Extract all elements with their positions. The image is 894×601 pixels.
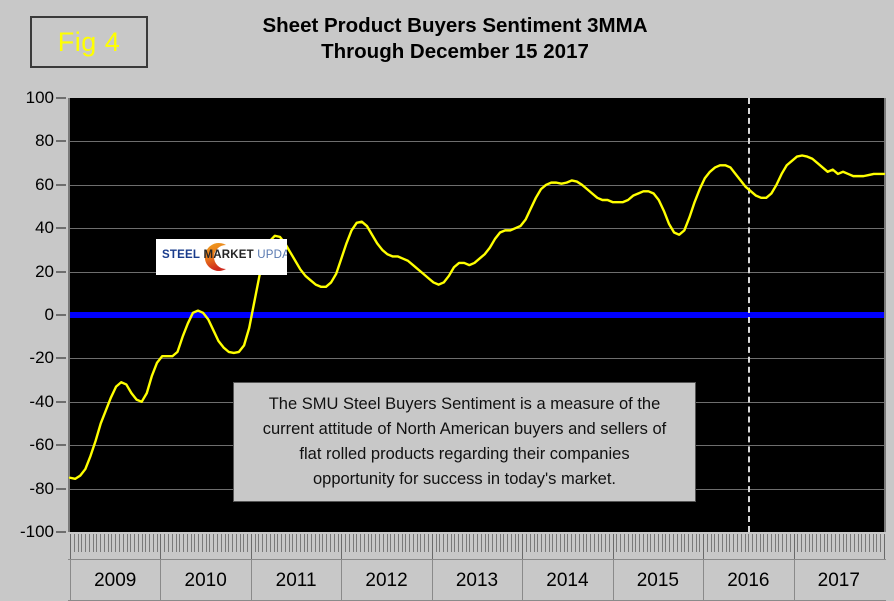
y-axis-tick-mark — [56, 227, 66, 229]
x-axis-minor-tick — [187, 534, 188, 552]
x-axis-minor-tick — [549, 534, 550, 552]
x-axis-minor-tick — [142, 534, 143, 552]
x-axis-minor-tick — [699, 534, 700, 552]
x-axis-minor-tick — [876, 534, 877, 552]
x-axis-minor-tick — [748, 534, 749, 552]
x-axis-minor-tick — [635, 534, 636, 552]
x-axis-minor-tick — [534, 534, 535, 552]
x-axis-minor-tick — [846, 534, 847, 552]
x-axis-minor-tick — [164, 534, 165, 552]
x-axis-label-separator — [703, 560, 704, 601]
x-axis-minor-tick — [123, 534, 124, 552]
x-axis-minor-tick — [78, 534, 79, 552]
x-axis-minor-tick — [643, 534, 644, 552]
x-axis-minor-tick — [601, 534, 602, 552]
x-axis-minor-tick — [473, 534, 474, 552]
x-axis-minor-tick — [262, 534, 263, 552]
y-axis-tick-mark — [56, 444, 66, 446]
x-axis-year-label: 2016 — [703, 560, 793, 601]
x-axis-year-tick — [70, 534, 71, 560]
x-axis-minor-tick — [202, 534, 203, 552]
x-axis-minor-tick — [492, 534, 493, 552]
x-axis-minor-tick — [707, 534, 708, 552]
x-axis-minor-tick — [658, 534, 659, 552]
x-axis-minor-tick — [236, 534, 237, 552]
x-axis-minor-tick — [541, 534, 542, 552]
x-axis-minor-tick — [405, 534, 406, 552]
y-axis-tick-label: -60 — [0, 435, 54, 455]
x-axis-label-separator — [341, 560, 342, 601]
logo-text: STEEL MARKET UPDATE — [162, 250, 287, 262]
x-axis-minor-tick — [590, 534, 591, 552]
x-axis-minor-tick — [786, 534, 787, 552]
x-axis-minor-tick — [402, 534, 403, 552]
y-axis-tick-mark — [56, 97, 66, 99]
x-axis-minor-tick — [797, 534, 798, 552]
x-axis-minor-tick — [733, 534, 734, 552]
x-axis-minor-tick — [741, 534, 742, 552]
x-axis-minor-tick — [880, 534, 881, 552]
x-axis-minor-tick — [371, 534, 372, 552]
x-axis-year-label: 2010 — [160, 560, 250, 601]
x-axis-minor-tick — [583, 534, 584, 552]
y-axis-tick-mark — [56, 314, 66, 316]
x-axis-minor-tick — [345, 534, 346, 552]
x-axis-minor-tick — [662, 534, 663, 552]
logo-text-steel: STEEL — [162, 249, 200, 261]
x-axis-minor-tick — [266, 534, 267, 552]
x-axis-year-label: 2017 — [794, 560, 884, 601]
annotation-line-1: The SMU Steel Buyers Sentiment is a meas… — [269, 395, 661, 413]
annotation-box: The SMU Steel Buyers Sentiment is a meas… — [233, 382, 696, 502]
x-axis-minor-tick — [334, 534, 335, 552]
x-axis-minor-tick — [319, 534, 320, 552]
x-axis-minor-tick — [726, 534, 727, 552]
y-axis-tick-mark — [56, 401, 66, 403]
x-axis-year-label: 2009 — [70, 560, 160, 601]
x-axis-minor-tick — [413, 534, 414, 552]
x-axis-minor-tick — [696, 534, 697, 552]
x-axis-minor-tick — [560, 534, 561, 552]
y-axis-tick-label: 20 — [0, 262, 54, 282]
x-axis-minor-tick — [575, 534, 576, 552]
y-axis-tick-label: 80 — [0, 131, 54, 151]
x-axis-minor-tick — [688, 534, 689, 552]
x-axis-year-label: 2012 — [341, 560, 431, 601]
x-axis-year-tick — [432, 534, 433, 560]
x-axis-minor-tick — [466, 534, 467, 552]
x-axis-minor-tick — [81, 534, 82, 552]
x-axis-minor-tick — [96, 534, 97, 552]
x-axis-minor-tick — [647, 534, 648, 552]
x-axis-minor-tick — [420, 534, 421, 552]
x-axis-minor-tick — [850, 534, 851, 552]
x-axis-minor-tick — [157, 534, 158, 552]
x-axis-minor-tick — [353, 534, 354, 552]
x-axis-minor-tick — [609, 534, 610, 552]
x-axis-minor-tick — [206, 534, 207, 552]
x-axis-minor-tick — [545, 534, 546, 552]
x-axis-minor-tick — [669, 534, 670, 552]
x-axis-minor-tick — [677, 534, 678, 552]
x-axis-minor-tick — [387, 534, 388, 552]
x-axis-minor-tick — [835, 534, 836, 552]
x-axis-minor-tick — [714, 534, 715, 552]
x-axis-minor-tick — [277, 534, 278, 552]
x-axis-minor-tick — [375, 534, 376, 552]
x-axis-minor-tick — [500, 534, 501, 552]
x-axis-minor-tick — [172, 534, 173, 552]
x-axis-minor-tick — [831, 534, 832, 552]
x-axis-minor-tick — [127, 534, 128, 552]
x-axis-minor-tick — [865, 534, 866, 552]
y-axis-tick-label: -20 — [0, 348, 54, 368]
x-axis-minor-tick — [620, 534, 621, 552]
x-axis-minor-tick — [598, 534, 599, 552]
x-axis-year-label: 2013 — [432, 560, 522, 601]
y-axis-tick-label: -80 — [0, 479, 54, 499]
x-axis-minor-tick — [247, 534, 248, 552]
y-axis-tick-mark — [56, 184, 66, 186]
x-axis-minor-tick — [632, 534, 633, 552]
x-axis-minor-tick — [481, 534, 482, 552]
x-axis-minor-tick — [556, 534, 557, 552]
x-axis-minor-tick — [812, 534, 813, 552]
x-axis-minor-tick — [827, 534, 828, 552]
x-axis-minor-tick — [737, 534, 738, 552]
x-axis-minor-tick — [85, 534, 86, 552]
x-axis-minor-tick — [398, 534, 399, 552]
logo-text-market: MARKET — [203, 249, 253, 261]
x-axis-minor-tick — [240, 534, 241, 552]
x-axis-minor-tick — [439, 534, 440, 552]
x-axis-minor-tick — [134, 534, 135, 552]
x-axis-minor-tick — [104, 534, 105, 552]
x-axis-minor-tick — [801, 534, 802, 552]
x-axis-minor-tick — [650, 534, 651, 552]
x-axis-minor-tick — [74, 534, 75, 552]
x-axis-minor-tick — [274, 534, 275, 552]
x-axis-year-tick — [703, 534, 704, 560]
x-axis-minor-tick — [665, 534, 666, 552]
x-axis-year-tick — [160, 534, 161, 560]
x-axis-minor-tick — [443, 534, 444, 552]
x-axis-label-separator — [70, 560, 71, 601]
chart-title: Sheet Product Buyers Sentiment 3MMA Thro… — [180, 13, 730, 65]
x-axis-minor-tick — [232, 534, 233, 552]
x-axis-minor-tick — [168, 534, 169, 552]
x-axis-minor-tick — [839, 534, 840, 552]
x-axis-minor-tick — [462, 534, 463, 552]
x-axis-minor-tick — [861, 534, 862, 552]
x-axis-minor-tick — [824, 534, 825, 552]
x-axis-minor-tick — [820, 534, 821, 552]
x-axis-minor-tick — [390, 534, 391, 552]
logo-text-update: UPDATE — [257, 249, 287, 261]
x-axis-minor-tick — [767, 534, 768, 552]
chart-title-line-1: Sheet Product Buyers Sentiment 3MMA — [180, 13, 730, 39]
x-axis-minor-tick — [869, 534, 870, 552]
x-axis-minor-tick — [130, 534, 131, 552]
x-axis-minor-tick — [477, 534, 478, 552]
x-axis-minor-tick — [469, 534, 470, 552]
x-axis-minor-tick — [552, 534, 553, 552]
x-axis-label-separator — [432, 560, 433, 601]
x-axis-minor-tick — [360, 534, 361, 552]
x-axis-minor-tick — [511, 534, 512, 552]
x-axis-minor-tick — [654, 534, 655, 552]
x-axis-minor-tick — [858, 534, 859, 552]
x-axis-minor-tick — [100, 534, 101, 552]
x-axis-minor-tick — [258, 534, 259, 552]
x-axis-minor-tick — [322, 534, 323, 552]
x-axis-minor-tick — [843, 534, 844, 552]
x-axis-minor-tick — [745, 534, 746, 552]
x-axis-minor-tick — [108, 534, 109, 552]
x-axis-minor-tick — [194, 534, 195, 552]
x-axis-minor-tick — [209, 534, 210, 552]
x-axis-minor-tick — [628, 534, 629, 552]
x-axis-minor-tick — [111, 534, 112, 552]
x-axis-labels: 200920102011201220132014201520162017 — [70, 560, 884, 601]
x-axis-minor-tick — [454, 534, 455, 552]
x-axis-minor-tick — [225, 534, 226, 552]
x-axis-year-tick — [613, 534, 614, 560]
x-axis-minor-tick — [315, 534, 316, 552]
x-axis-minor-tick — [616, 534, 617, 552]
x-axis-minor-tick — [304, 534, 305, 552]
x-axis-minor-tick — [711, 534, 712, 552]
x-axis-minor-tick — [752, 534, 753, 552]
x-axis-minor-tick — [436, 534, 437, 552]
chart-title-line-2: Through December 15 2017 — [180, 39, 730, 65]
x-axis-minor-tick — [281, 534, 282, 552]
x-axis-minor-tick — [775, 534, 776, 552]
y-axis: 100806040200-20-40-60-80-100 — [0, 98, 68, 532]
x-axis-minor-tick — [515, 534, 516, 552]
x-axis-year-label: 2015 — [613, 560, 703, 601]
x-axis-minor-tick — [228, 534, 229, 552]
x-axis-minor-tick — [417, 534, 418, 552]
x-axis-year-tick — [522, 534, 523, 560]
x-axis-minor-tick — [198, 534, 199, 552]
x-axis-minor-tick — [311, 534, 312, 552]
x-axis-year-label: 2011 — [251, 560, 341, 601]
x-axis-minor-tick — [718, 534, 719, 552]
x-axis-year-tick — [794, 534, 795, 560]
x-axis-minor-tick — [530, 534, 531, 552]
x-axis-minor-tick — [681, 534, 682, 552]
x-axis-minor-tick — [217, 534, 218, 552]
x-axis-minor-tick — [153, 534, 154, 552]
x-axis-minor-tick — [458, 534, 459, 552]
x-axis-minor-tick — [270, 534, 271, 552]
x-axis-minor-tick — [771, 534, 772, 552]
x-axis-minor-tick — [243, 534, 244, 552]
x-axis-minor-tick — [579, 534, 580, 552]
x-axis-minor-tick — [763, 534, 764, 552]
x-axis-minor-tick — [89, 534, 90, 552]
x-axis-minor-tick — [518, 534, 519, 552]
x-axis-minor-tick — [816, 534, 817, 552]
x-axis-minor-tick — [526, 534, 527, 552]
x-axis-minor-tick — [605, 534, 606, 552]
x-axis-minor-tick — [179, 534, 180, 552]
y-axis-tick-label: 100 — [0, 88, 54, 108]
x-axis-minor-tick — [451, 534, 452, 552]
x-axis-label-separator — [160, 560, 161, 601]
x-axis-minor-tick — [326, 534, 327, 552]
x-axis-minor-tick — [255, 534, 256, 552]
x-axis-minor-tick — [428, 534, 429, 552]
x-axis-minor-tick — [394, 534, 395, 552]
annotation-line-2: current attitude of North American buyer… — [263, 420, 667, 438]
x-axis-label-separator — [794, 560, 795, 601]
x-axis-minor-tick — [307, 534, 308, 552]
y-axis-tick-mark — [56, 140, 66, 142]
y-axis-tick-label: -40 — [0, 392, 54, 412]
x-axis-minor-tick — [383, 534, 384, 552]
x-axis-minor-tick — [790, 534, 791, 552]
x-axis-minor-tick — [289, 534, 290, 552]
x-axis-minor-tick — [537, 534, 538, 552]
x-axis-minor-tick — [285, 534, 286, 552]
figure-badge: Fig 4 — [30, 16, 148, 68]
x-axis-year-tick — [341, 534, 342, 560]
x-axis-minor-tick — [567, 534, 568, 552]
x-axis-minor-tick — [424, 534, 425, 552]
x-axis-minor-tick — [349, 534, 350, 552]
x-axis-minor-tick — [586, 534, 587, 552]
x-axis-minor-tick — [673, 534, 674, 552]
x-axis-minor-tick — [496, 534, 497, 552]
x-axis-minor-tick — [760, 534, 761, 552]
x-axis-minor-tick — [368, 534, 369, 552]
x-axis-minor-tick — [409, 534, 410, 552]
x-axis-minor-tick — [873, 534, 874, 552]
y-axis-tick-label: 60 — [0, 175, 54, 195]
x-axis-label-separator — [251, 560, 252, 601]
x-axis-minor-tick — [692, 534, 693, 552]
x-axis-minor-tick — [379, 534, 380, 552]
x-axis-minor-tick — [564, 534, 565, 552]
x-axis-minor-tick — [183, 534, 184, 552]
x-axis-minor-tick — [149, 534, 150, 552]
x-axis-minor-tick — [503, 534, 504, 552]
x-axis-minor-tick — [93, 534, 94, 552]
figure-badge-label: Fig 4 — [58, 29, 121, 56]
y-axis-tick-label: -100 — [0, 522, 54, 542]
x-axis-minor-tick — [854, 534, 855, 552]
x-axis-minor-tick — [805, 534, 806, 552]
x-axis-minor-tick — [782, 534, 783, 552]
x-axis-minor-ticks — [70, 534, 884, 560]
annotation-line-4: opportunity for success in today's marke… — [313, 470, 616, 488]
x-axis-label-separator — [613, 560, 614, 601]
x-axis-minor-tick — [507, 534, 508, 552]
x-axis-minor-tick — [722, 534, 723, 552]
x-axis-minor-tick — [639, 534, 640, 552]
y-axis-tick-mark — [56, 357, 66, 359]
x-axis-minor-tick — [119, 534, 120, 552]
x-axis-minor-tick — [364, 534, 365, 552]
x-axis-label-separator — [522, 560, 523, 601]
x-axis-minor-tick — [356, 534, 357, 552]
steel-market-update-logo: STEEL MARKET UPDATE — [156, 239, 287, 275]
y-axis-tick-mark — [56, 531, 66, 533]
x-axis-minor-tick — [778, 534, 779, 552]
annotation-line-3: flat rolled products regarding their com… — [299, 445, 629, 463]
x-axis-year-tick — [884, 534, 885, 560]
x-axis-minor-tick — [447, 534, 448, 552]
x-axis-minor-tick — [594, 534, 595, 552]
x-axis-minor-tick — [729, 534, 730, 552]
x-axis-minor-tick — [213, 534, 214, 552]
x-axis-minor-tick — [296, 534, 297, 552]
x-axis-minor-tick — [191, 534, 192, 552]
x-axis-minor-tick — [624, 534, 625, 552]
x-axis-minor-tick — [221, 534, 222, 552]
x-axis-year-label: 2014 — [522, 560, 612, 601]
x-axis-minor-tick — [488, 534, 489, 552]
annotation-text: The SMU Steel Buyers Sentiment is a meas… — [263, 392, 667, 492]
x-axis-minor-tick — [145, 534, 146, 552]
x-axis-minor-tick — [338, 534, 339, 552]
y-axis-tick-mark — [56, 488, 66, 490]
x-axis-minor-tick — [571, 534, 572, 552]
x-axis-minor-tick — [138, 534, 139, 552]
y-axis-tick-mark — [56, 271, 66, 273]
y-axis-tick-label: 0 — [0, 305, 54, 325]
y-axis-tick-label: 40 — [0, 218, 54, 238]
plot-right-border — [884, 98, 886, 532]
x-axis-minor-tick — [684, 534, 685, 552]
x-axis-minor-tick — [330, 534, 331, 552]
x-axis-minor-tick — [300, 534, 301, 552]
x-axis-minor-tick — [292, 534, 293, 552]
x-axis-year-tick — [251, 534, 252, 560]
x-axis-minor-tick — [756, 534, 757, 552]
x-axis-minor-tick — [176, 534, 177, 552]
x-axis-minor-tick — [809, 534, 810, 552]
x-axis-minor-tick — [485, 534, 486, 552]
x-axis-minor-tick — [115, 534, 116, 552]
